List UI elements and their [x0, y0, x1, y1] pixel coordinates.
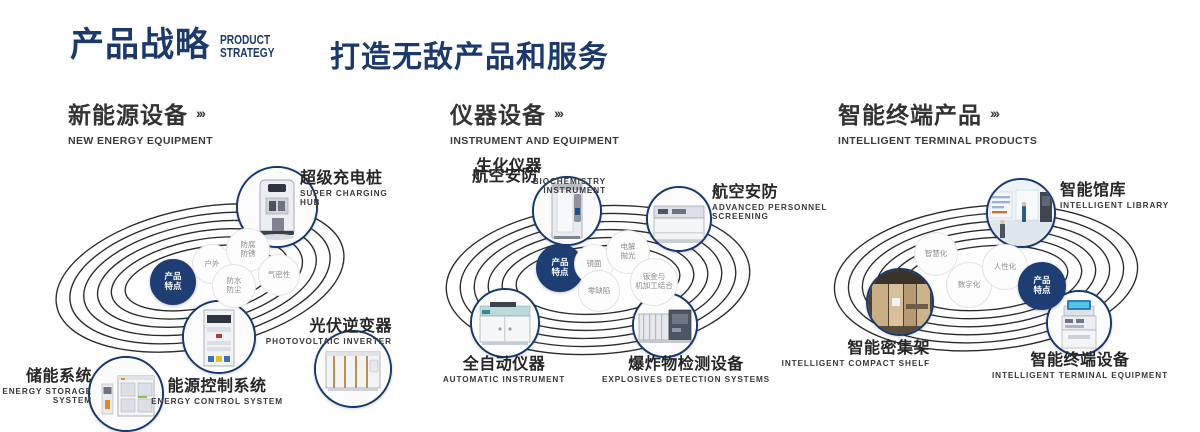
headline: 打造无敌产品和服务	[330, 32, 609, 76]
feature-label: 镜面	[587, 260, 602, 269]
feature-bubble-sheetmetal-machining[interactable]: 钣金与机加工结合	[630, 258, 678, 306]
feature-line1: 产品	[1033, 276, 1050, 286]
feature-line1: 产品	[551, 258, 568, 268]
chevron-triple-icon: ›››	[990, 105, 998, 121]
section-title-intelligent-terminal: 智能终端产品››› INTELLIGENT TERMINAL PRODUCTS	[838, 96, 1037, 147]
feature-line2: 防锈	[241, 250, 256, 259]
label-en: INTELLIGENT LIBRARY	[1060, 201, 1190, 210]
feature-bubble-airtight[interactable]: 气密性	[258, 254, 300, 296]
feature-line2: 抛光	[621, 252, 636, 261]
label-biochemistry-instrument: 生化仪器 BIOCHEMISTRY INSTRUMENT	[476, 152, 606, 195]
feature-bubble-main[interactable]: 产品特点	[1018, 262, 1066, 310]
page-header: 产品战略 PRODUCT STRATEGY 打造无敌产品和服务	[0, 0, 1200, 88]
label-cn: 能源控制系统	[82, 372, 352, 396]
section-title-en: INSTRUMENT AND EQUIPMENT	[450, 135, 619, 147]
brand-subtitle-line2: STRATEGY	[220, 46, 274, 59]
label-cn: 光伏逆变器	[242, 312, 392, 336]
label-en: ENERGY CONTROL SYSTEM	[82, 397, 352, 406]
feature-line1: 产品	[164, 272, 181, 282]
control-cabinet-icon	[184, 302, 254, 372]
label-cn: 超级充电桩	[300, 164, 400, 188]
feature-bubble-zero-defect[interactable]: 零缺陷	[578, 270, 620, 312]
chevron-triple-icon: ›››	[196, 105, 204, 121]
feature-line2: 特点	[551, 268, 568, 278]
feature-line2: 机加工结合	[635, 282, 673, 291]
label-cn: 智能密集架	[730, 334, 930, 358]
label-en: PHOTOVOLTAIC INVERTER	[242, 337, 392, 346]
label-automatic-instrument: 全自动仪器 AUTOMATIC INSTRUMENT	[414, 350, 594, 384]
label-en: BIOCHEMISTRY INSTRUMENT	[476, 177, 606, 195]
library-room-icon	[988, 180, 1054, 246]
label-intelligent-terminal-equipment: 智能终端设备 INTELLIGENT TERMINAL EQUIPMENT	[980, 346, 1180, 380]
compact-shelf-icon	[868, 270, 932, 334]
label-en: INTELLIGENT COMPACT SHELF	[730, 359, 930, 368]
label-intelligent-compact-shelf: 智能密集架 INTELLIGENT COMPACT SHELF	[730, 334, 930, 368]
cluster-new-energy: 储能系统 ENERGY STORAGE SYSTEM 超级充电桩 SUPER C…	[0, 150, 400, 410]
label-en: ENERGY STORAGE SYSTEM	[0, 387, 92, 405]
feature-label: 人性化	[994, 263, 1017, 272]
node-automatic-instrument[interactable]	[470, 288, 540, 358]
section-title-cn: 智能终端产品	[838, 96, 982, 130]
label-cn: 全自动仪器	[414, 350, 594, 374]
node-intelligent-compact-shelf[interactable]	[866, 268, 934, 336]
section-title-instrument: 仪器设备››› INSTRUMENT AND EQUIPMENT	[450, 96, 619, 147]
section-title-cn: 新能源设备	[68, 96, 188, 130]
section-title-cn: 仪器设备	[450, 96, 546, 130]
cluster-instrument: 航空安防 生化仪器 BIOCHEMISTRY INSTRUMENT 航空安防 A…	[400, 150, 800, 410]
product-strategy-infographic: 产品战略 PRODUCT STRATEGY 打造无敌产品和服务 新能源设备›››…	[0, 0, 1200, 422]
label-en: SUPER CHARGING HUB	[300, 189, 400, 207]
feature-label: 智慧化	[925, 250, 948, 259]
section-title-new-energy: 新能源设备››› NEW ENERGY EQUIPMENT	[68, 96, 213, 147]
section-title-en: NEW ENERGY EQUIPMENT	[68, 135, 213, 147]
feature-label: 数字化	[958, 281, 981, 290]
label-energy-storage: 储能系统 ENERGY STORAGE SYSTEM	[0, 362, 92, 405]
feature-bubble-waterproof[interactable]: 防水防尘	[212, 264, 256, 308]
label-cn: 智能馆库	[1060, 176, 1190, 200]
chevron-triple-icon: ›››	[554, 105, 562, 121]
brand-lockup: 产品战略 PRODUCT STRATEGY	[70, 28, 290, 62]
feature-line2: 特点	[1033, 286, 1050, 296]
feature-bubble-main[interactable]: 产品特点	[150, 259, 196, 305]
node-advanced-personnel-screening[interactable]	[646, 186, 712, 252]
label-cn: 生化仪器	[476, 152, 606, 176]
label-en: INTELLIGENT TERMINAL EQUIPMENT	[980, 371, 1180, 380]
feature-label: 户外	[205, 260, 220, 269]
label-cn: 储能系统	[0, 362, 92, 386]
feature-label: 气密性	[268, 271, 291, 280]
label-en: AUTOMATIC INSTRUMENT	[414, 375, 594, 384]
label-photovoltaic-inverter: 光伏逆变器 PHOTOVOLTAIC INVERTER	[242, 312, 392, 346]
feature-line2: 特点	[164, 282, 181, 292]
brand-subtitle-line1: PRODUCT	[220, 33, 274, 46]
page-title: 产品战略	[70, 28, 210, 62]
feature-label: 零缺陷	[588, 287, 611, 296]
screening-machine-icon	[648, 188, 710, 250]
label-en: EXPLOSIVES DETECTION SYSTEMS	[578, 375, 794, 384]
label-super-charging-hub: 超级充电桩 SUPER CHARGING HUB	[300, 164, 400, 207]
label-energy-control-system: 能源控制系统 ENERGY CONTROL SYSTEM	[82, 372, 352, 406]
cluster-intelligent-terminal: 智能馆库 INTELLIGENT LIBRARY 智能密集架 INTELLIGE…	[790, 150, 1190, 410]
automatic-analyzer-icon	[472, 290, 538, 356]
section-title-en: INTELLIGENT TERMINAL PRODUCTS	[838, 135, 1037, 147]
node-intelligent-library[interactable]	[986, 178, 1056, 248]
label-intelligent-library: 智能馆库 INTELLIGENT LIBRARY	[1060, 176, 1190, 210]
brand-subtitle: PRODUCT STRATEGY	[220, 33, 274, 63]
label-cn: 智能终端设备	[980, 346, 1180, 370]
node-energy-control-system[interactable]	[182, 300, 256, 374]
feature-line2: 防尘	[227, 286, 242, 295]
